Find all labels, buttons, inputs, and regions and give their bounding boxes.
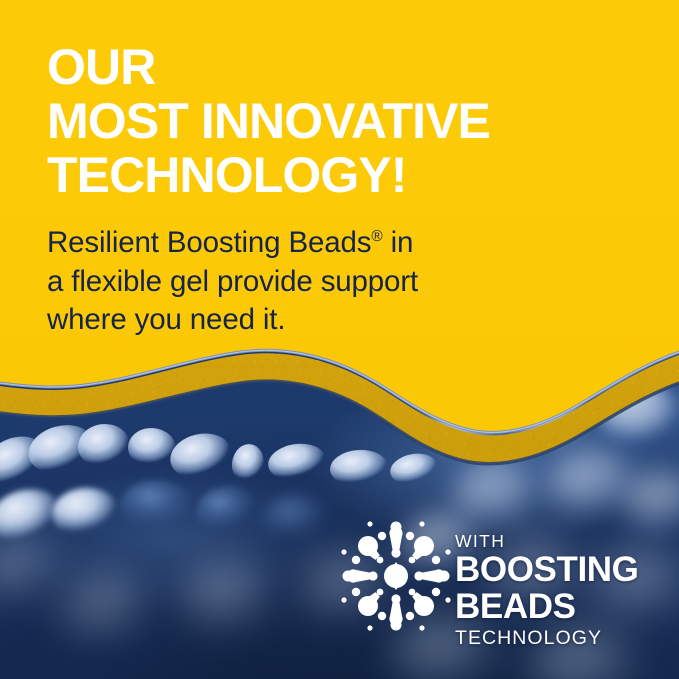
- logo-with-label: WITH: [455, 532, 638, 551]
- registered-trademark-mark: ®: [371, 228, 382, 245]
- ad-creative: OUR MOST INNOVATIVE TECHNOLOGY! Resilien…: [0, 0, 679, 679]
- boosting-beads-burst-icon: [340, 516, 452, 636]
- logo-wordmark: WITH BOOSTING BEADS TECHNOLOGY: [455, 532, 638, 649]
- logo-brand-line2: BEADS: [455, 589, 638, 625]
- logo-technology-label: TECHNOLOGY: [455, 627, 638, 649]
- subcopy-line1-pre: Resilient Boosting Beads: [47, 226, 371, 259]
- subcopy-line2: a flexible gel provide support: [47, 265, 418, 298]
- subcopy-line3: where you need it.: [47, 303, 285, 336]
- boosting-beads-logo-lockup: WITH BOOSTING BEADS TECHNOLOGY: [340, 516, 640, 644]
- logo-brand-line1: BOOSTING: [455, 552, 638, 588]
- subcopy-paragraph: Resilient Boosting Beads® in a flexible …: [47, 224, 607, 340]
- subcopy-line1-post: in: [383, 226, 414, 259]
- page-title: OUR MOST INNOVATIVE TECHNOLOGY!: [47, 40, 647, 202]
